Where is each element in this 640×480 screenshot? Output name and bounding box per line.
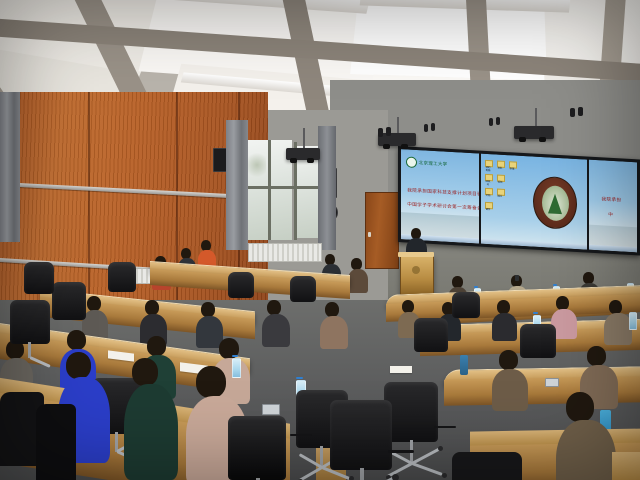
- bottle-cap: [533, 312, 538, 314]
- desktop-icon[interactable]: 资料: [497, 161, 503, 168]
- window-tree-view: [248, 150, 266, 180]
- door[interactable]: [365, 192, 399, 269]
- slide-right-line-1: 我院承担: [601, 196, 621, 203]
- chair-armrest: [434, 426, 456, 428]
- slide-right-line-2: 中: [608, 212, 613, 218]
- projector-lens-icon: [307, 158, 314, 163]
- chair-caster: [442, 473, 447, 478]
- chair-armrest: [290, 434, 312, 436]
- projector-lens-icon: [290, 158, 297, 163]
- projector-mount: [535, 108, 537, 128]
- bottle-cap: [474, 286, 478, 288]
- door-handle-icon: [368, 232, 371, 237]
- projection-screen: 北京理工大学 我院承担国家科技支撑计划项目验收总结会 中国学子学术研讨会第一次筹…: [398, 146, 640, 256]
- projector-lens-icon: [383, 144, 390, 149]
- projector-mount: [303, 128, 305, 150]
- chair-silhouette[interactable]: [452, 452, 522, 480]
- lecture-hall-photo: 北京理工大学 我院承担国家科技支撑计划项目验收总结会 中国学子学术研讨会第一次筹…: [0, 0, 640, 480]
- speaker-podium: [400, 255, 434, 295]
- spotlight-icon: [431, 123, 435, 131]
- chair-caster: [438, 446, 443, 451]
- chair-caster: [392, 474, 399, 480]
- bottle-cap: [553, 284, 557, 286]
- radiator: [248, 243, 322, 262]
- spotlight-icon: [496, 117, 500, 125]
- phone-in-hand-icon: [515, 275, 519, 281]
- desktop-icon[interactable]: 新建: [509, 161, 515, 168]
- spotlight-icon: [489, 118, 493, 126]
- screen-panel-right-slide: 我院承担 中: [589, 160, 637, 253]
- projector-lens-icon: [401, 144, 408, 149]
- desktop-icon[interactable]: 文档: [485, 188, 491, 195]
- bottle-cap: [296, 377, 303, 379]
- desktop-icon[interactable]: 我的电脑: [485, 160, 491, 167]
- podium-emblem-icon: [412, 266, 420, 274]
- phone-on-desk[interactable]: [262, 404, 280, 415]
- desktop-icon[interactable]: 图片: [497, 189, 503, 196]
- chair-silhouette[interactable]: [36, 404, 76, 480]
- spotlight-icon: [570, 108, 575, 117]
- chair-armrest: [388, 450, 414, 453]
- desktop-icon[interactable]: 视频: [497, 175, 503, 182]
- university-logo: 北京理工大学: [406, 157, 448, 170]
- paper-document: [390, 366, 412, 373]
- curtain[interactable]: [226, 120, 248, 250]
- projector-lens-icon: [519, 137, 526, 142]
- logo-text: 北京理工大学: [419, 160, 448, 168]
- window-mullion: [246, 186, 322, 189]
- desktop-icon[interactable]: 回收站: [485, 174, 491, 181]
- projector-lens-icon: [539, 137, 546, 142]
- thermos-bottle: [460, 355, 468, 375]
- spotlight-icon: [578, 107, 583, 116]
- curtain[interactable]: [318, 126, 336, 250]
- wall-speaker-icon: [213, 148, 227, 172]
- chair-caster: [349, 476, 354, 480]
- pine-tree-icon: [548, 193, 562, 214]
- phone-on-desk[interactable]: [545, 378, 559, 387]
- desktop-icon[interactable]: 课件: [485, 202, 491, 209]
- bottle-cap: [232, 355, 238, 357]
- spotlight-icon: [378, 128, 383, 137]
- podium-top: [398, 252, 434, 257]
- screen-panel-desktop: 我的电脑 回收站 文档 课件 资料 视频 图片 新建: [481, 154, 587, 250]
- curtain[interactable]: [0, 92, 20, 242]
- university-seal-icon: [406, 157, 417, 169]
- water-bottle: [629, 312, 637, 330]
- slide-photo-band: [589, 225, 637, 248]
- spotlight-icon: [386, 127, 391, 136]
- window-mullion: [268, 140, 271, 240]
- desk-block-right: [612, 452, 640, 480]
- water-bottle: [232, 358, 241, 378]
- spotlight-icon: [424, 124, 428, 132]
